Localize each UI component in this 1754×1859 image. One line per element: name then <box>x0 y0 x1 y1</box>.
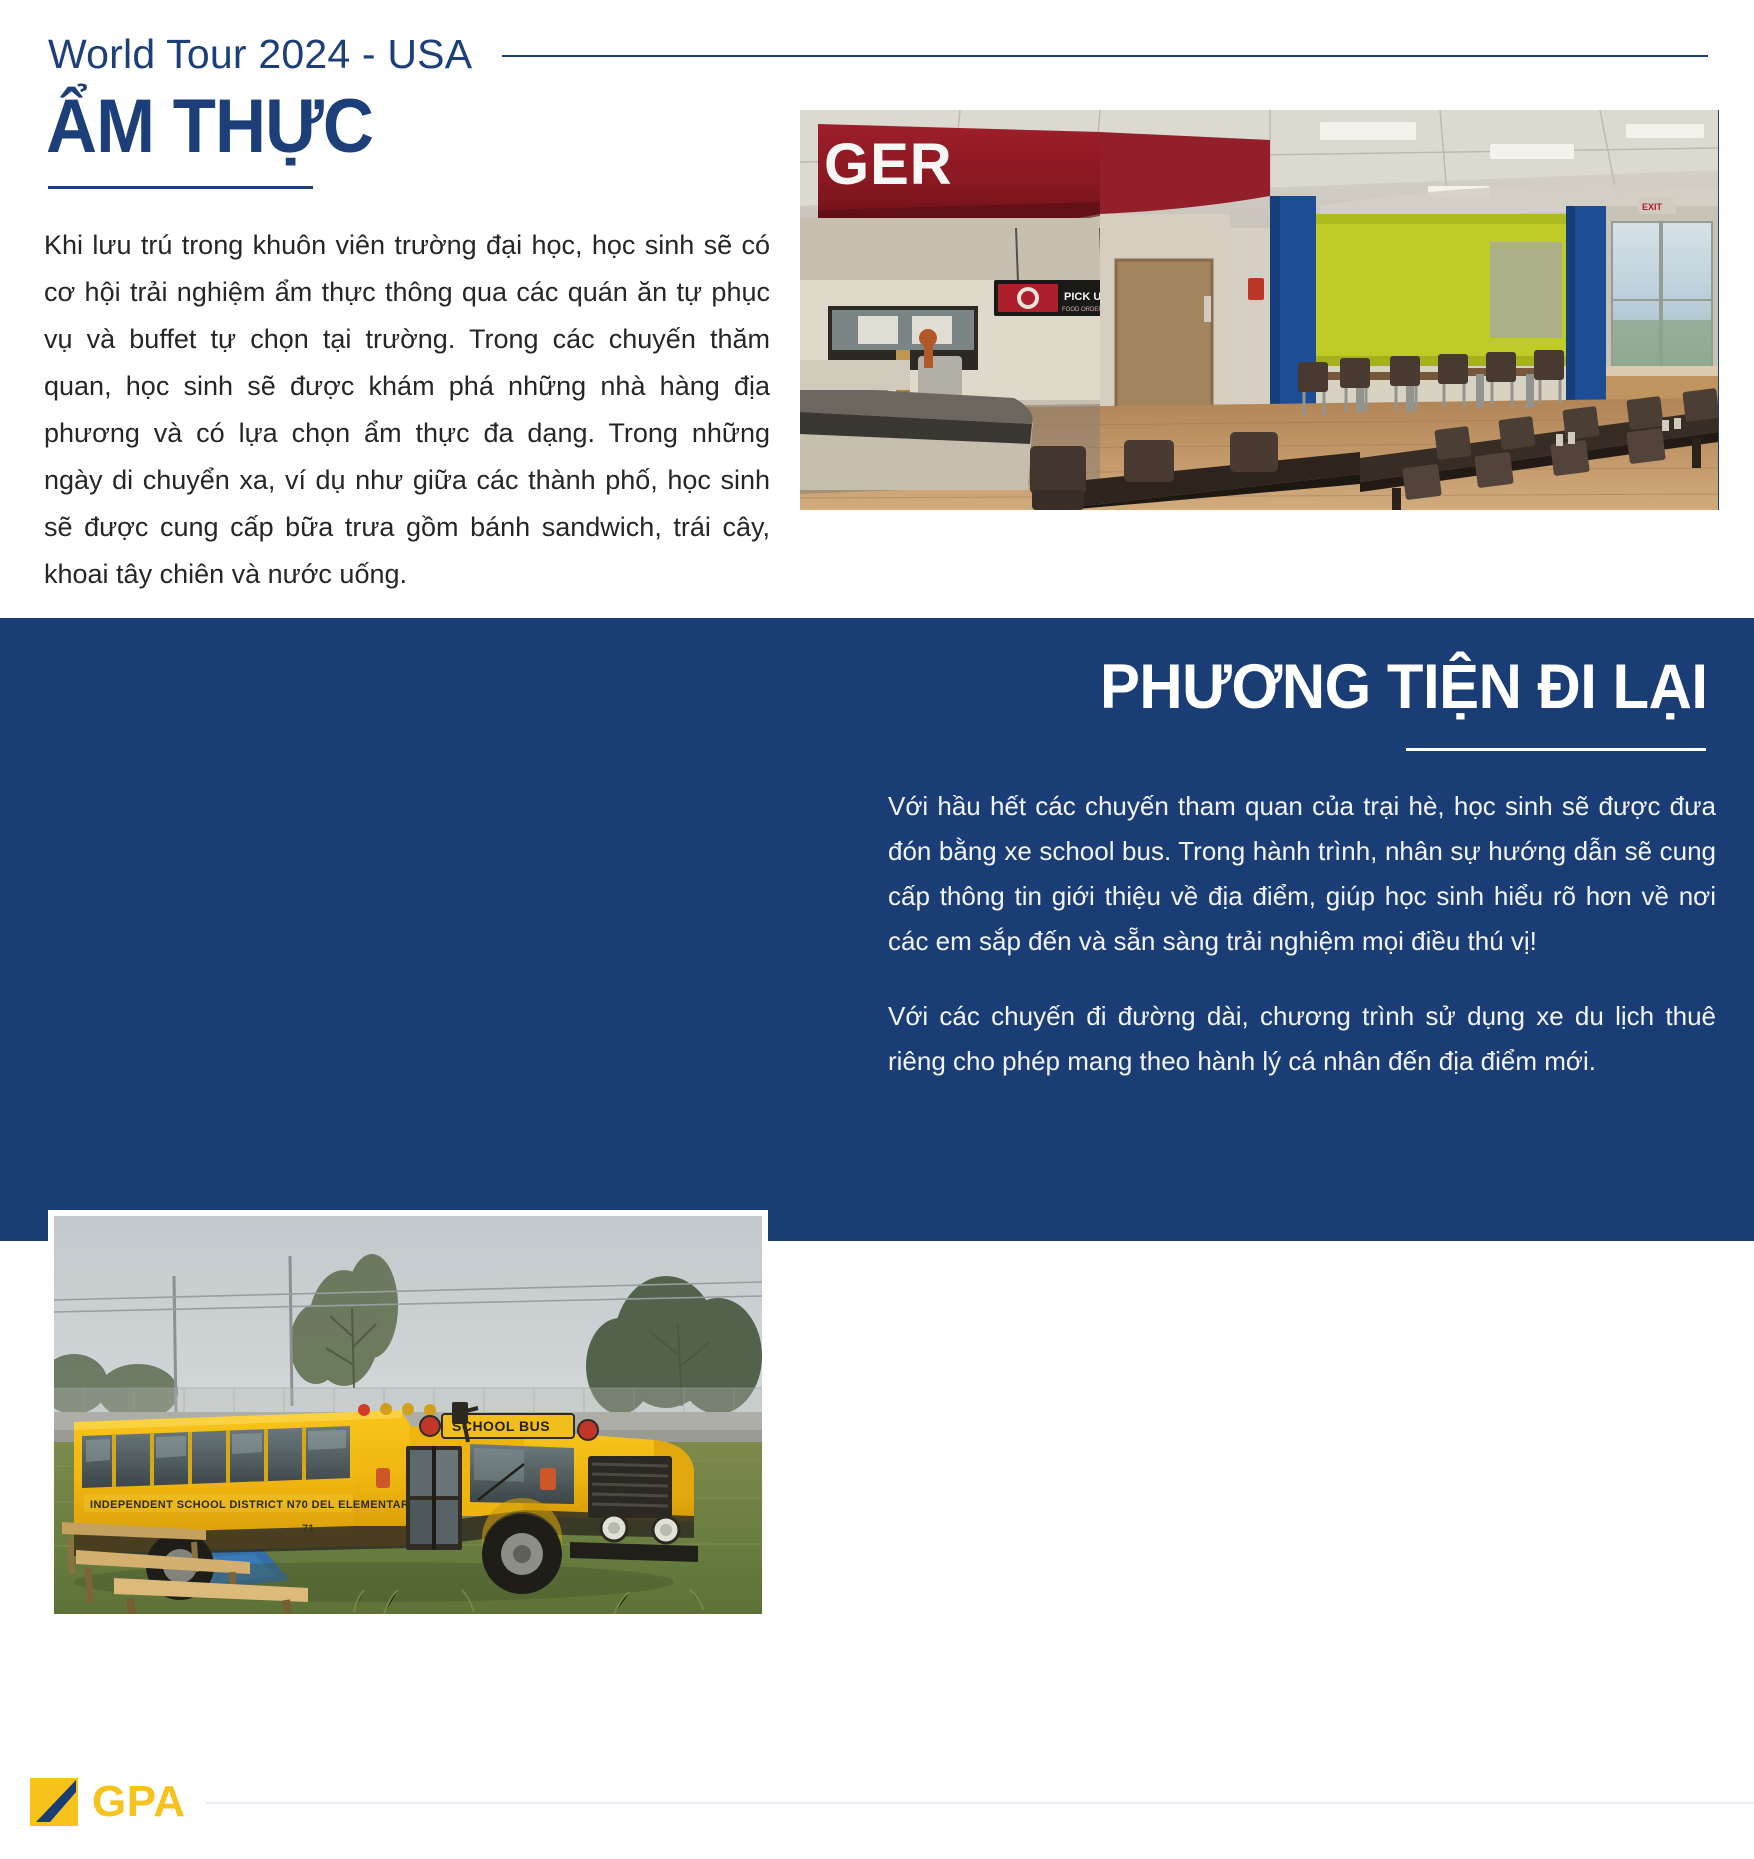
footer-bar: GPA <box>0 1758 1754 1859</box>
eyebrow-title: World Tour 2024 - USA <box>48 34 472 75</box>
section-body-transport: Với hầu hết các chuyến tham quan của trạ… <box>888 784 1716 1084</box>
transport-paragraph-2: Với các chuyến đi đường dài, chương trìn… <box>888 994 1716 1084</box>
eyebrow-divider <box>502 55 1708 57</box>
culinary-section: World Tour 2024 - USA ẨM THỰC Khi lưu tr… <box>0 0 1754 618</box>
gpa-logo: GPA <box>30 1778 186 1826</box>
gpa-wordmark: GPA <box>92 1780 186 1824</box>
transport-paragraph-1: Với hầu hết các chuyến tham quan của trạ… <box>888 784 1716 964</box>
gpa-diagonal-slash-icon <box>30 1778 78 1826</box>
section-body-culinary: Khi lưu trú trong khuôn viên trường đại … <box>44 222 770 598</box>
transport-section: PHƯƠNG TIỆN ĐI LẠI Với hầu hết các chuyế… <box>0 618 1754 1241</box>
eyebrow-row: World Tour 2024 - USA <box>48 28 1708 80</box>
school-bus-photo: SCHOOL BUS <box>48 1210 768 1620</box>
cafeteria-photo-canvas: GER <box>800 110 1718 510</box>
footer-divider <box>206 1802 1754 1804</box>
gpa-mark-icon <box>30 1778 78 1826</box>
section-title-transport: PHƯƠNG TIỆN ĐI LẠI <box>1100 656 1708 719</box>
section-title-underline <box>48 186 313 189</box>
university-cafeteria-photo: GER <box>800 110 1718 510</box>
school-bus-photo-canvas: SCHOOL BUS <box>54 1216 762 1614</box>
section-title-underline-transport <box>1406 748 1706 751</box>
section-title-culinary: ẨM THỰC <box>46 88 373 166</box>
